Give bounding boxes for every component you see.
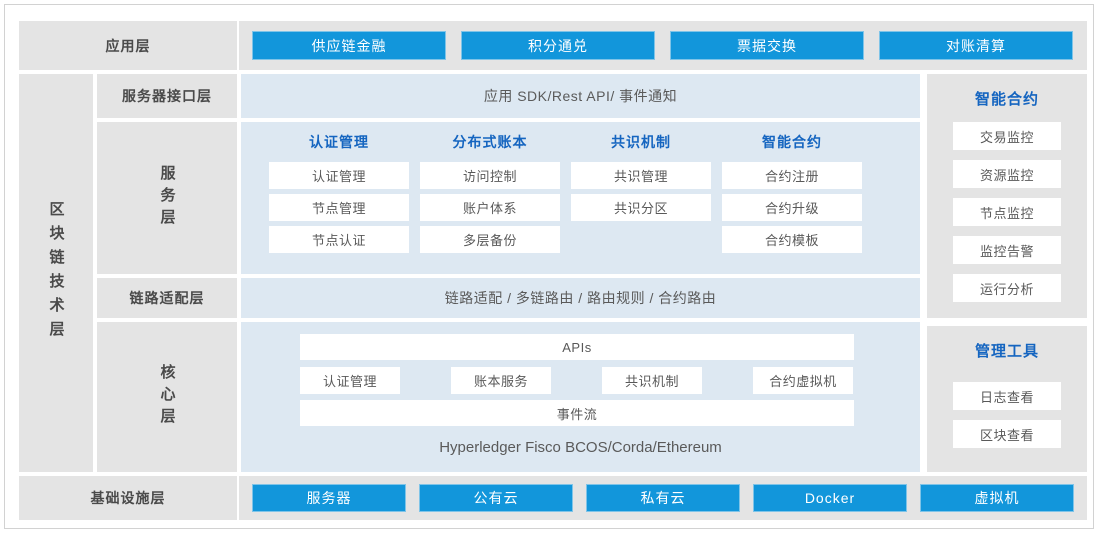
service-cell-contract-upgrade[interactable]: 合约升级 [722,194,862,221]
architecture-diagram: 应用层 供应链金融 积分通兑 票据交换 对账清算 区块链技术层 服务器接口层 服… [4,4,1094,529]
app-item-reconciliation-settlement[interactable]: 对账清算 [879,31,1073,60]
server-interface-band: 应用 SDK/Rest API/ 事件通知 [241,74,920,118]
monitor-cell-transaction[interactable]: 交易监控 [953,122,1061,150]
side-panel-smart-contract: 智能合约 交易监控 资源监控 节点监控 监控告警 运行分析 [927,74,1087,318]
service-cell-account-system[interactable]: 账户体系 [420,194,560,221]
core-cell-contract-vm[interactable]: 合约虚拟机 [753,367,853,394]
service-column-smart-contract: 智能合约 合约注册 合约升级 合约模板 [722,132,862,258]
service-column-ledger-head: 分布式账本 [420,132,560,152]
link-adapter-layer-label: 链路适配层 [97,278,237,318]
core-cell-auth-management[interactable]: 认证管理 [300,367,400,394]
app-item-bill-exchange[interactable]: 票据交换 [670,31,864,60]
core-apis-bar[interactable]: APIs [300,334,854,360]
side-panel-management-tools-head: 管理工具 [927,340,1087,361]
monitor-cell-resource[interactable]: 资源监控 [953,160,1061,188]
core-cell-ledger-service[interactable]: 账本服务 [451,367,551,394]
service-cell-contract-template[interactable]: 合约模板 [722,226,862,253]
service-layer-band: 认证管理 认证管理 节点管理 节点认证 分布式账本 访问控制 账户体系 多层备份… [241,122,920,274]
infrastructure-layer-strip: 服务器 公有云 私有云 Docker 虚拟机 [239,476,1087,520]
infra-item-server[interactable]: 服务器 [252,484,406,512]
service-cell-contract-register[interactable]: 合约注册 [722,162,862,189]
monitor-cell-alarm[interactable]: 监控告警 [953,236,1061,264]
blockchain-tech-layer-label: 区块链技术层 [19,74,93,472]
service-cell-node-management[interactable]: 节点管理 [269,194,409,221]
core-platform-footer: Hyperledger Fisco BCOS/Corda/Ethereum [241,430,920,464]
service-layer-label: 服务层 [97,122,237,274]
monitor-cell-node[interactable]: 节点监控 [953,198,1061,226]
tool-cell-log-viewer[interactable]: 日志查看 [953,382,1061,410]
service-column-auth-head: 认证管理 [269,132,409,152]
service-cell-consensus-management[interactable]: 共识管理 [571,162,711,189]
blockchain-tech-layer-text: 区块链技术层 [46,201,67,345]
core-cell-consensus-mechanism[interactable]: 共识机制 [602,367,702,394]
infra-item-docker[interactable]: Docker [753,484,907,512]
service-cell-access-control[interactable]: 访问控制 [420,162,560,189]
server-interface-layer-label: 服务器接口层 [97,74,237,118]
service-column-smart-contract-head: 智能合约 [722,132,862,152]
service-column-auth: 认证管理 认证管理 节点管理 节点认证 [269,132,409,258]
service-layer-text: 服务层 [157,165,178,231]
app-item-points-exchange[interactable]: 积分通兑 [461,31,655,60]
side-panel-management-tools: 管理工具 日志查看 区块查看 [927,326,1087,472]
side-panel-smart-contract-head: 智能合约 [927,88,1087,109]
tool-cell-block-viewer[interactable]: 区块查看 [953,420,1061,448]
application-layer-label: 应用层 [19,21,237,70]
service-column-consensus-head: 共识机制 [571,132,711,152]
service-column-ledger: 分布式账本 访问控制 账户体系 多层备份 [420,132,560,258]
core-event-stream-bar[interactable]: 事件流 [300,400,854,426]
infrastructure-layer-label: 基础设施层 [19,476,237,520]
service-cell-multilayer-backup[interactable]: 多层备份 [420,226,560,253]
service-column-consensus: 共识机制 共识管理 共识分区 [571,132,711,226]
service-cell-consensus-partition[interactable]: 共识分区 [571,194,711,221]
service-cell-auth-management[interactable]: 认证管理 [269,162,409,189]
link-adapter-band: 链路适配 / 多链路由 / 路由规则 / 合约路由 [241,278,920,318]
infra-item-private-cloud[interactable]: 私有云 [586,484,740,512]
core-layer-band: APIs 认证管理 账本服务 共识机制 合约虚拟机 事件流 Hyperledge… [241,322,920,472]
service-cell-node-auth[interactable]: 节点认证 [269,226,409,253]
application-layer-strip: 供应链金融 积分通兑 票据交换 对账清算 [239,21,1087,70]
infra-item-public-cloud[interactable]: 公有云 [419,484,573,512]
core-layer-text: 核心层 [157,364,178,430]
monitor-cell-runtime-analysis[interactable]: 运行分析 [953,274,1061,302]
infra-item-virtual-machine[interactable]: 虚拟机 [920,484,1074,512]
core-layer-label: 核心层 [97,322,237,472]
app-item-supply-chain-finance[interactable]: 供应链金融 [252,31,446,60]
